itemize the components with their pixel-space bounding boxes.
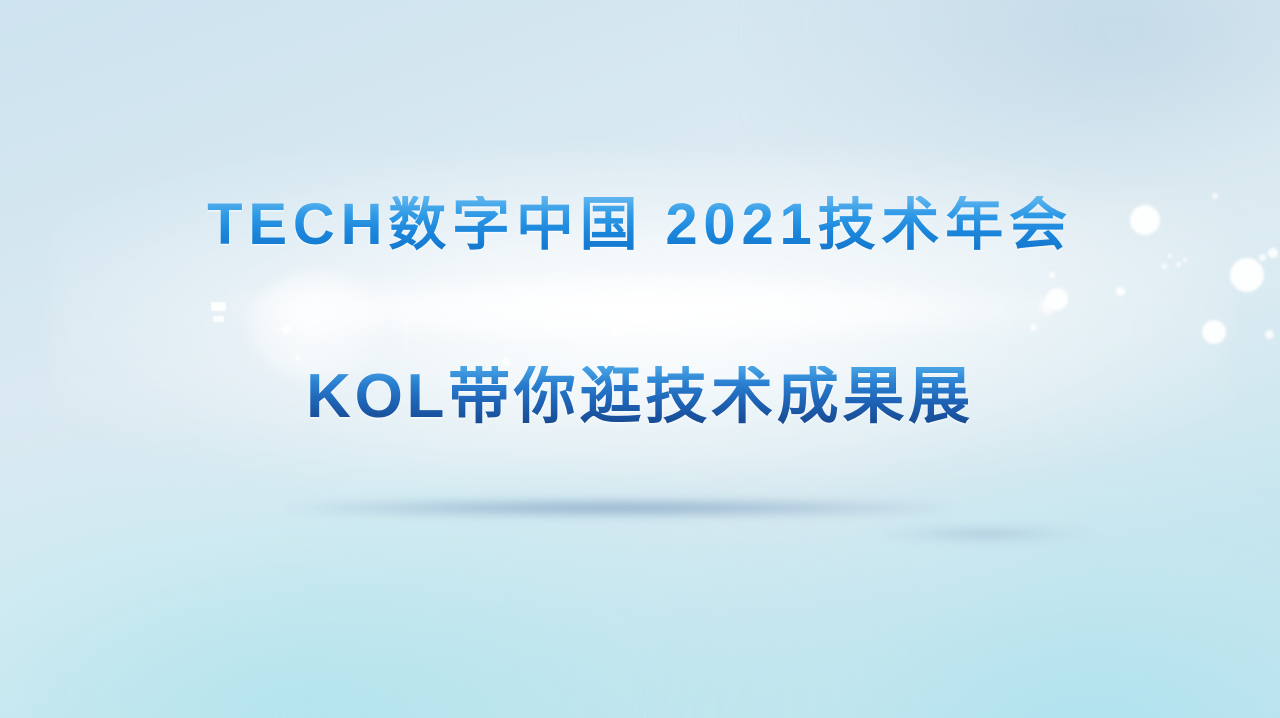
event-title: TECH数字中国 2021技术年会: [0, 196, 1280, 254]
horizontal-wisp-secondary: [880, 528, 1090, 540]
session-title: KOL带你逛技术成果展: [0, 366, 1280, 428]
horizontal-wisp: [282, 500, 954, 516]
background-teal-glow-right: [666, 460, 1280, 718]
title-slide: TECH数字中国 2021技术年会 KOL带你逛技术成果展: [0, 0, 1280, 718]
headline-block: TECH数字中国 2021技术年会 KOL带你逛技术成果展: [0, 196, 1280, 428]
